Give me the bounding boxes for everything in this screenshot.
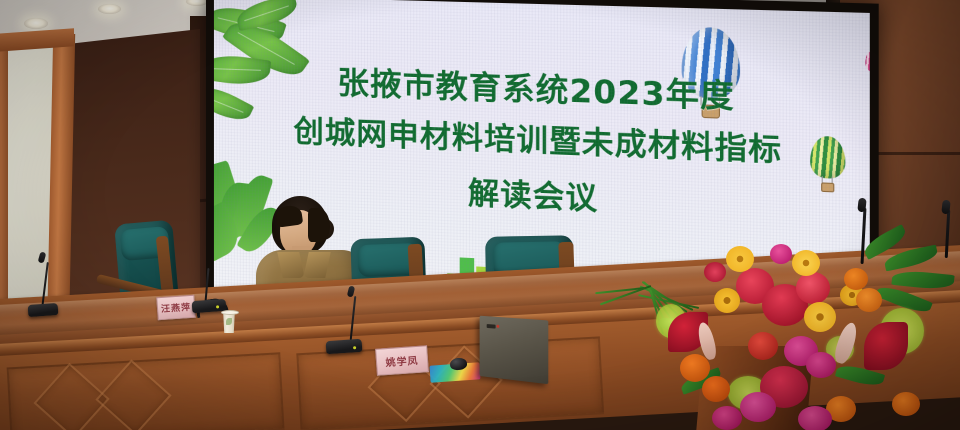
foliage-leaf <box>883 245 939 272</box>
flower-pink <box>712 406 742 430</box>
flower-yellow <box>714 288 740 313</box>
door-frame <box>0 40 8 340</box>
flower-yellow <box>792 250 820 276</box>
flower-orange <box>892 392 920 416</box>
foliage-leaf <box>891 269 954 291</box>
flower-red <box>704 262 726 282</box>
balloon-envelope <box>865 49 869 73</box>
microphone-indicator-led <box>216 305 219 308</box>
conference-microphone-base <box>326 339 363 354</box>
flower-orange <box>844 268 868 290</box>
floral-arrangement <box>640 226 960 430</box>
flower-yellow <box>804 302 836 332</box>
nameplate-right: 姚学凤 <box>375 345 429 376</box>
flower-red <box>748 332 778 360</box>
flower-pink <box>770 244 792 264</box>
flower-orange <box>680 354 710 382</box>
flower-red <box>864 322 908 370</box>
flower-pink <box>806 352 836 378</box>
laptop-computer <box>480 316 549 385</box>
paper-cup-rim <box>221 310 239 315</box>
flower-pink <box>740 392 776 422</box>
flower-orange <box>856 288 882 312</box>
laptop-logo <box>487 324 496 329</box>
flower-yellow <box>726 246 754 272</box>
hot-air-balloon-pink <box>865 49 869 73</box>
recessed-ceiling-light <box>98 4 121 14</box>
nameplate-left: 汪燕萍 <box>156 295 196 321</box>
recessed-ceiling-light <box>24 18 48 29</box>
paper-cup-logo <box>226 318 232 325</box>
microphone-indicator-led <box>353 346 356 349</box>
flower-orange <box>702 376 730 402</box>
flower-red <box>796 272 830 304</box>
laptop-logo-dot <box>497 325 500 328</box>
flower-pink <box>798 406 832 430</box>
conference-room-photo: 张掖市教育系统2023年度 创城网申材料培训暨未成材料指标 解读会议 <box>0 0 960 430</box>
conference-microphone-base <box>28 303 59 317</box>
hair-side <box>308 208 330 242</box>
